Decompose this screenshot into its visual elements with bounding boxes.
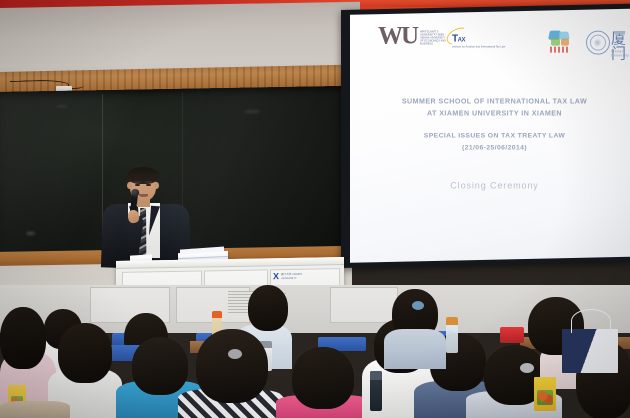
hair xyxy=(127,167,159,184)
person-head xyxy=(0,307,46,369)
ear-right xyxy=(154,182,159,189)
red-object xyxy=(500,327,524,343)
lecture-hall-photo: WU WIRTSCHAFTS UNIVERSITÄT WIEN VIENNA U… xyxy=(0,0,630,418)
person-body xyxy=(384,329,446,369)
slide-title-line-2: AT XIAMEN UNIVERSITY IN XIAMEN xyxy=(350,108,630,120)
tote-bag xyxy=(562,329,618,373)
globe-logo xyxy=(548,31,574,55)
hair-tie xyxy=(520,363,534,373)
thermos xyxy=(370,371,382,411)
eyebrow-left xyxy=(134,181,141,183)
tax-institute-logo: TAX Institute for Austrian and Internati… xyxy=(452,34,514,49)
projection-screen-surface: WU WIRTSCHAFTS UNIVERSITÄT WIEN VIENNA U… xyxy=(350,8,630,262)
person-head xyxy=(196,329,268,403)
hand xyxy=(127,209,140,223)
desk-logo-text: 厦门大学 XIAMEN UNIVERSITY xyxy=(281,273,303,280)
university-seal-icon xyxy=(586,31,610,55)
wu-vienna-logo: WU WIRTSCHAFTS UNIVERSITÄT WIEN VIENNA U… xyxy=(378,26,446,48)
wu-logo-mark: WU xyxy=(378,26,417,48)
slide-subtitle-line-1: SPECIAL ISSUES ON TAX TREATY LAW xyxy=(350,131,630,143)
slide-logo-row: WU WIRTSCHAFTS UNIVERSITÄT WIEN VIENNA U… xyxy=(364,20,630,66)
presenter xyxy=(100,163,192,267)
water-bottle xyxy=(446,317,458,353)
wu-logo-subtext: WIRTSCHAFTS UNIVERSITÄT WIEN VIENNA UNIV… xyxy=(420,32,446,47)
audience-area xyxy=(0,285,630,418)
mouth xyxy=(139,194,148,197)
ear-left xyxy=(127,182,132,189)
slide-title-line-1: SUMMER SCHOOL OF INTERNATIONAL TAX LAW xyxy=(350,96,630,108)
desk-logo-mark: X xyxy=(273,272,279,281)
juice-box xyxy=(534,377,556,411)
slide-text-block: SUMMER SCHOOL OF INTERNATIONAL TAX LAW A… xyxy=(350,96,630,191)
person-head xyxy=(248,285,288,331)
person-head xyxy=(292,347,354,409)
eyebrow-right xyxy=(145,181,152,183)
slide-date-range: (21/06-25/06/2014) xyxy=(350,142,630,154)
wall-panel xyxy=(330,287,398,323)
slide-closing-ceremony-label: Closing Ceremony xyxy=(350,181,630,191)
hair-tie xyxy=(228,349,242,359)
hair-clip xyxy=(412,301,424,310)
person-head xyxy=(132,337,188,395)
xiamen-logo-english: Xiamen University xyxy=(611,50,629,58)
projection-screen-frame: WU WIRTSCHAFTS UNIVERSITÄT WIEN VIENNA U… xyxy=(341,4,630,268)
person-head xyxy=(58,323,112,383)
backpack xyxy=(0,401,70,418)
desk-university-logo: X 厦门大学 XIAMEN UNIVERSITY xyxy=(273,272,303,282)
tax-logo-subtext: Institute for Austrian and International… xyxy=(452,46,514,49)
